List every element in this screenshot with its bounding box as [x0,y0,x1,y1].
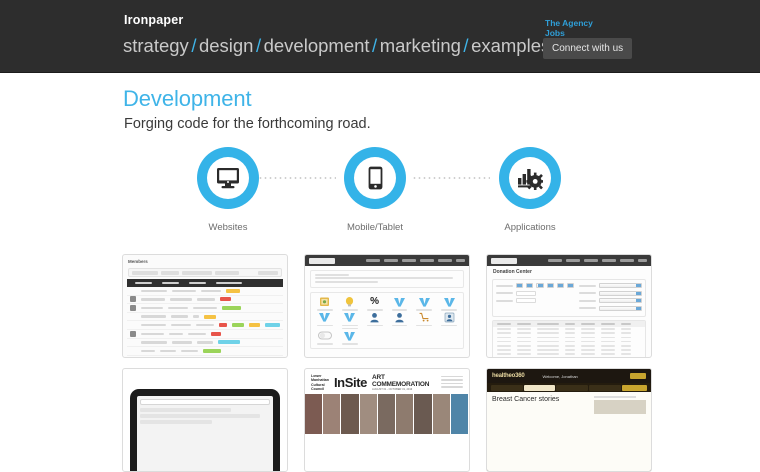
page-title: Development [123,86,252,112]
thumb-icon-grid: % [310,292,464,349]
thumbnail-tablet-device[interactable] [122,368,288,472]
nav-item-examples[interactable]: examples [471,35,550,56]
service-applications[interactable]: Applications [490,145,570,233]
h360-tabs [487,383,651,392]
thumbnail-insite-art[interactable]: Lower Manhattan Cultural Council InSite … [304,368,470,472]
service-websites[interactable]: Websites [188,145,268,233]
insite-header: Lower Manhattan Cultural Council InSite … [305,369,469,394]
monitor-icon [216,167,240,189]
service-label: Applications [490,222,570,233]
service-circle [344,147,406,209]
insite-photo-strip [305,394,469,434]
h360-sidebar [594,396,646,472]
h360-topbar: healtheo360 Welcome, Jonathan [487,369,651,383]
thumb-filter-panel [492,279,646,317]
thumb-topbar [305,255,469,266]
tablet-frame [130,389,280,471]
thumb-filter-bar [128,268,282,277]
insite-brand: InSite [334,375,367,390]
service-circle [499,147,561,209]
site-header: Ironpaper strategy/design/development/ma… [0,0,760,73]
nav-separator: / [370,35,380,56]
utility-link-jobs[interactable]: Jobs [545,28,593,38]
mobile-phone-icon [368,166,383,190]
insite-nav-lines [441,376,463,390]
insite-dateline: AUGUST 01 - OCTOBER 31, 2013 [372,388,429,391]
utility-link-the-agency[interactable]: The Agency [545,18,593,28]
thumb-results-table [492,320,646,358]
nav-separator: / [461,35,471,56]
tablet-screen [137,396,273,471]
bar-chart-gear-icon [517,166,543,190]
thumbnail-ecommerce-dashboard[interactable]: % [304,254,470,358]
h360-logo: healtheo360 [492,373,524,379]
service-mobile-tablet[interactable]: Mobile/Tablet [335,145,415,233]
page-tagline: Forging code for the forthcoming road. [124,116,371,132]
h360-content: Breast Cancer stories [487,392,651,472]
thumbnail-healtheo360[interactable]: healtheo360 Welcome, Jonathan Breast Can… [486,368,652,472]
service-label: Websites [188,222,268,233]
thumbnail-members-table[interactable]: Members [122,254,288,358]
services-row: Websites Mobile/Tablet [0,145,760,245]
thumb-table-header [127,279,283,287]
connector-dots-left [258,177,336,179]
thumb-members-title: Members [123,255,287,266]
brand-logo[interactable]: Ironpaper [124,13,183,27]
service-circle [197,147,259,209]
portfolio-thumbnail-grid: Members [122,254,662,472]
lmcc-logo: Lower Manhattan Cultural Council [311,374,329,391]
connector-dots-right [412,177,490,179]
main-navigation: strategy/design/development/marketing/ex… [123,35,550,57]
nav-separator: / [253,35,263,56]
h360-welcome: Welcome, Jonathan [542,374,577,379]
utility-navigation: The Agency Jobs [545,18,593,38]
h360-cta-pill [630,373,646,379]
insite-title-top: ART [372,374,429,381]
nav-separator: / [189,35,199,56]
thumb-welcome-panel [310,270,464,288]
thumb-topbar [487,255,651,266]
thumbnail-donation-center[interactable]: More stories from Trudy S. Donation Cent… [486,254,652,358]
connect-with-us-button[interactable]: Connect with us [543,38,632,59]
nav-item-marketing[interactable]: marketing [380,35,461,56]
nav-item-development[interactable]: development [264,35,370,56]
thumb-table-body [123,287,287,358]
nav-item-design[interactable]: design [199,35,254,56]
nav-item-strategy[interactable]: strategy [123,35,189,56]
service-label: Mobile/Tablet [335,222,415,233]
